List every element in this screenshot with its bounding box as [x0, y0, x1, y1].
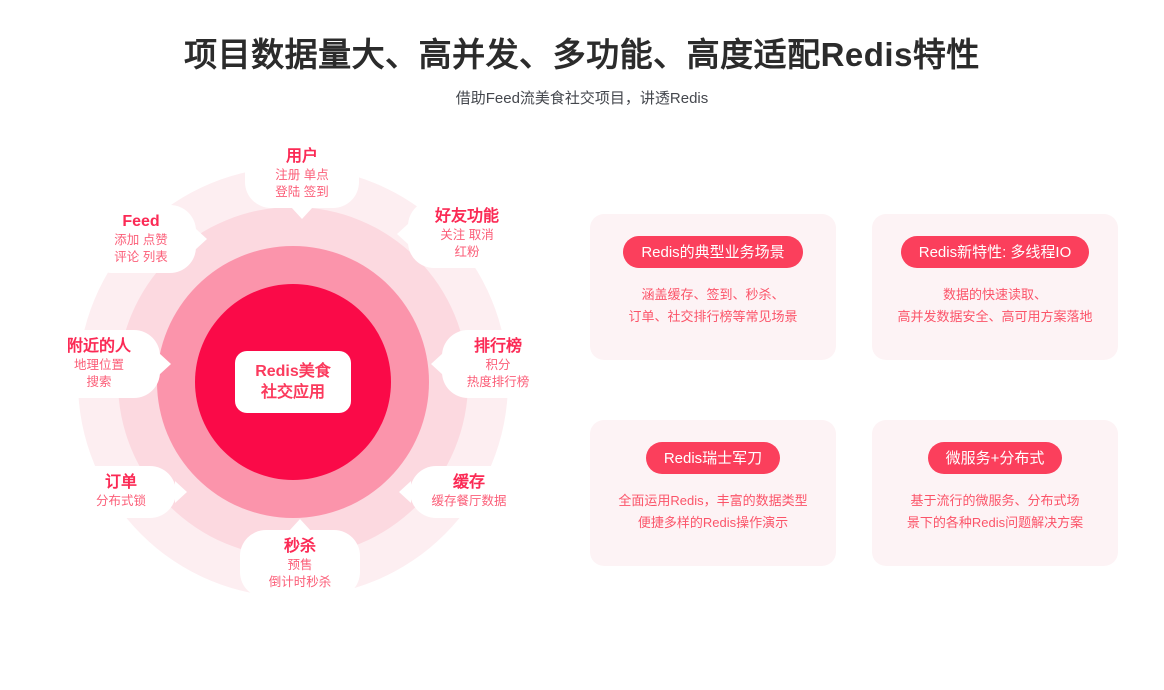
card-body-line2: 高并发数据安全、高可用方案落地 — [897, 306, 1092, 328]
card-body: 全面运用Redis，丰富的数据类型 便捷多样的Redis操作演示 — [618, 490, 807, 534]
concentric-diagram: Redis美食 社交应用 用户 注册 单点 登陆 签到 Feed 添加 点赞 评… — [8, 132, 578, 632]
node-sub-1: 地理位置 — [52, 357, 146, 374]
diagram-node-cache[interactable]: 缓存 缓存餐厅数据 — [410, 466, 528, 518]
node-sub-1: 分布式锁 — [80, 493, 162, 510]
page-header: 项目数据量大、高并发、多功能、高度适配Redis特性 借助Feed流美食社交项目… — [0, 0, 1164, 108]
feature-card-microservice-distributed[interactable]: 微服务+分布式 基于流行的微服务、分布式场 景下的各种Redis问题解决方案 — [872, 420, 1118, 566]
node-sub-2: 登陆 签到 — [259, 184, 345, 201]
card-pill-label: 微服务+分布式 — [928, 442, 1063, 474]
page-subtitle: 借助Feed流美食社交项目，讲透Redis — [0, 87, 1164, 108]
node-sub-2: 热度排行榜 — [456, 374, 540, 391]
feature-card-swiss-army-knife[interactable]: Redis瑞士军刀 全面运用Redis，丰富的数据类型 便捷多样的Redis操作… — [590, 420, 836, 566]
card-body-line1: 涵盖缓存、签到、秒杀、 — [628, 284, 797, 306]
card-pill-label: Redis的典型业务场景 — [623, 236, 802, 268]
diagram-node-flashsale[interactable]: 秒杀 预售 倒计时秒杀 — [240, 530, 360, 598]
card-pill-label: Redis瑞士军刀 — [646, 442, 780, 474]
node-sub-2: 红粉 — [422, 244, 512, 261]
card-body-line2: 景下的各种Redis问题解决方案 — [907, 512, 1083, 534]
node-title: 订单 — [80, 472, 162, 493]
card-body: 数据的快速读取、 高并发数据安全、高可用方案落地 — [897, 284, 1092, 328]
node-title: 好友功能 — [422, 206, 512, 227]
node-sub-2: 倒计时秒杀 — [254, 574, 346, 591]
feature-card-business-scenarios[interactable]: Redis的典型业务场景 涵盖缓存、签到、秒杀、 订单、社交排行榜等常见场景 — [590, 214, 836, 360]
node-title: 秒杀 — [254, 536, 346, 557]
node-sub-1: 关注 取消 — [422, 227, 512, 244]
node-sub-2: 评论 列表 — [100, 249, 182, 266]
card-body-line1: 数据的快速读取、 — [897, 284, 1092, 306]
center-label-line1: Redis美食 — [255, 361, 331, 382]
card-body-line1: 全面运用Redis，丰富的数据类型 — [618, 490, 807, 512]
diagram-center-label: Redis美食 社交应用 — [235, 351, 351, 413]
node-title: 排行榜 — [456, 336, 540, 357]
page-title: 项目数据量大、高并发、多功能、高度适配Redis特性 — [0, 34, 1164, 75]
diagram-node-nearby[interactable]: 附近的人 地理位置 搜索 — [38, 330, 160, 398]
diagram-node-user[interactable]: 用户 注册 单点 登陆 签到 — [245, 140, 359, 208]
node-sub-2: 搜索 — [52, 374, 146, 391]
feature-card-grid: Redis的典型业务场景 涵盖缓存、签到、秒杀、 订单、社交排行榜等常见场景 R… — [590, 214, 1150, 566]
card-body-line2: 订单、社交排行榜等常见场景 — [628, 306, 797, 328]
diagram-node-order[interactable]: 订单 分布式锁 — [66, 466, 176, 518]
diagram-node-leaderboard[interactable]: 排行榜 积分 热度排行榜 — [442, 330, 554, 398]
node-title: 用户 — [259, 146, 345, 167]
card-body: 涵盖缓存、签到、秒杀、 订单、社交排行榜等常见场景 — [628, 284, 797, 328]
node-title: 附近的人 — [52, 336, 146, 357]
node-sub-1: 预售 — [254, 557, 346, 574]
center-label-line2: 社交应用 — [261, 382, 325, 403]
card-body-line1: 基于流行的微服务、分布式场 — [907, 490, 1083, 512]
diagram-node-feed[interactable]: Feed 添加 点赞 评论 列表 — [86, 205, 196, 273]
node-title: 缓存 — [424, 472, 514, 493]
main-content: Redis美食 社交应用 用户 注册 单点 登陆 签到 Feed 添加 点赞 评… — [0, 132, 1164, 690]
card-pill-label: Redis新特性: 多线程IO — [901, 236, 1090, 268]
card-body-line2: 便捷多样的Redis操作演示 — [618, 512, 807, 534]
feature-card-new-features[interactable]: Redis新特性: 多线程IO 数据的快速读取、 高并发数据安全、高可用方案落地 — [872, 214, 1118, 360]
node-sub-1: 注册 单点 — [259, 167, 345, 184]
diagram-node-friend[interactable]: 好友功能 关注 取消 红粉 — [408, 200, 526, 268]
card-body: 基于流行的微服务、分布式场 景下的各种Redis问题解决方案 — [907, 490, 1083, 534]
node-sub-1: 缓存餐厅数据 — [424, 493, 514, 510]
node-sub-1: 积分 — [456, 357, 540, 374]
node-sub-1: 添加 点赞 — [100, 232, 182, 249]
node-title: Feed — [100, 211, 182, 232]
